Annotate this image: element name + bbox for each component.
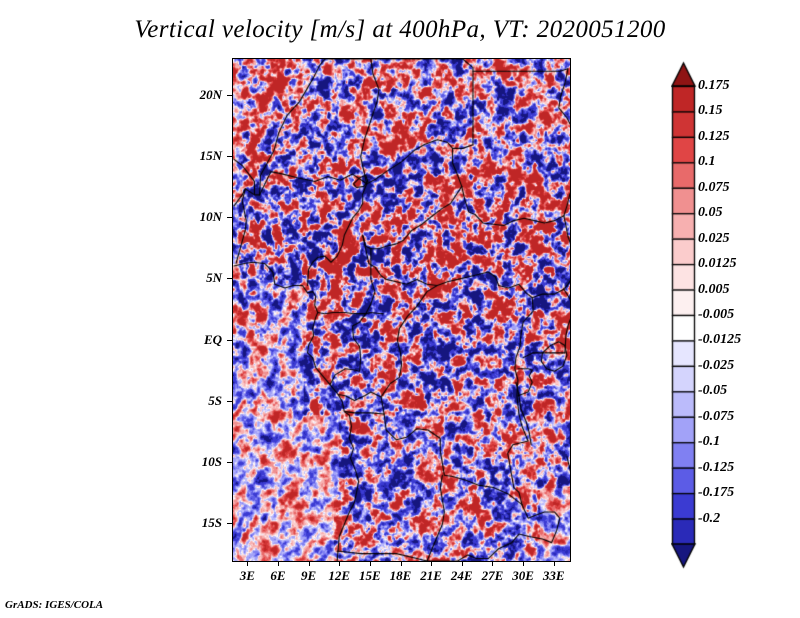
colorbar-swatches bbox=[671, 60, 701, 570]
colorbar-tick-label: -0.1 bbox=[698, 434, 720, 450]
colorbar-tick-label: 0.125 bbox=[698, 129, 730, 145]
y-axis-label: EQ bbox=[170, 332, 222, 348]
x-tick-mark bbox=[554, 561, 555, 566]
y-tick-mark bbox=[227, 340, 232, 341]
x-tick-mark bbox=[339, 561, 340, 566]
page-title: Vertical velocity [m/s] at 400hPa, VT: 2… bbox=[0, 16, 800, 44]
colorbar-tick-label: -0.2 bbox=[698, 511, 720, 527]
x-tick-mark bbox=[278, 561, 279, 566]
x-tick-mark bbox=[431, 561, 432, 566]
x-tick-mark bbox=[309, 561, 310, 566]
y-axis-label: 5S bbox=[170, 393, 222, 409]
y-tick-mark bbox=[227, 156, 232, 157]
country-borders-overlay bbox=[233, 59, 570, 561]
x-tick-mark bbox=[401, 561, 402, 566]
colorbar-tick-label: 0.1 bbox=[698, 154, 716, 170]
colorbar-tick-label: -0.125 bbox=[698, 460, 734, 476]
colorbar-tick-label: 0.0125 bbox=[698, 256, 737, 272]
y-axis-label: 20N bbox=[170, 87, 222, 103]
y-tick-mark bbox=[227, 401, 232, 402]
colorbar-tick-label: -0.025 bbox=[698, 358, 734, 374]
colorbar-tick-label: -0.175 bbox=[698, 485, 734, 501]
map-plot-area bbox=[232, 58, 571, 562]
y-tick-mark bbox=[227, 217, 232, 218]
y-tick-mark bbox=[227, 462, 232, 463]
map-frame bbox=[232, 58, 571, 562]
colorbar-tick-label: 0.025 bbox=[698, 231, 730, 247]
x-tick-mark bbox=[370, 561, 371, 566]
colorbar-tick-label: 0.05 bbox=[698, 205, 723, 221]
x-tick-mark bbox=[492, 561, 493, 566]
y-axis-label: 5N bbox=[170, 270, 222, 286]
x-tick-mark bbox=[523, 561, 524, 566]
colorbar-tick-label: 0.005 bbox=[698, 282, 730, 298]
colorbar-tick-label: -0.05 bbox=[698, 383, 727, 399]
grads-attribution: GrADS: IGES/COLA bbox=[5, 599, 103, 611]
y-axis-label: 15N bbox=[170, 148, 222, 164]
colorbar-tick-label: -0.005 bbox=[698, 307, 734, 323]
colorbar-tick-label: -0.0125 bbox=[698, 332, 741, 348]
colorbar-tick-label: 0.175 bbox=[698, 78, 730, 94]
y-axis-label: 15S bbox=[170, 515, 222, 531]
y-axis-label: 10S bbox=[170, 454, 222, 470]
x-tick-mark bbox=[247, 561, 248, 566]
y-tick-mark bbox=[227, 95, 232, 96]
y-axis-label: 10N bbox=[170, 209, 222, 225]
colorbar: 0.1750.150.1250.10.0750.050.0250.01250.0… bbox=[671, 60, 796, 570]
y-tick-mark bbox=[227, 278, 232, 279]
y-tick-mark bbox=[227, 523, 232, 524]
x-tick-mark bbox=[462, 561, 463, 566]
colorbar-tick-label: 0.15 bbox=[698, 103, 723, 119]
x-axis-label: 33E bbox=[529, 568, 579, 584]
colorbar-tick-label: 0.075 bbox=[698, 180, 730, 196]
colorbar-tick-label: -0.075 bbox=[698, 409, 734, 425]
